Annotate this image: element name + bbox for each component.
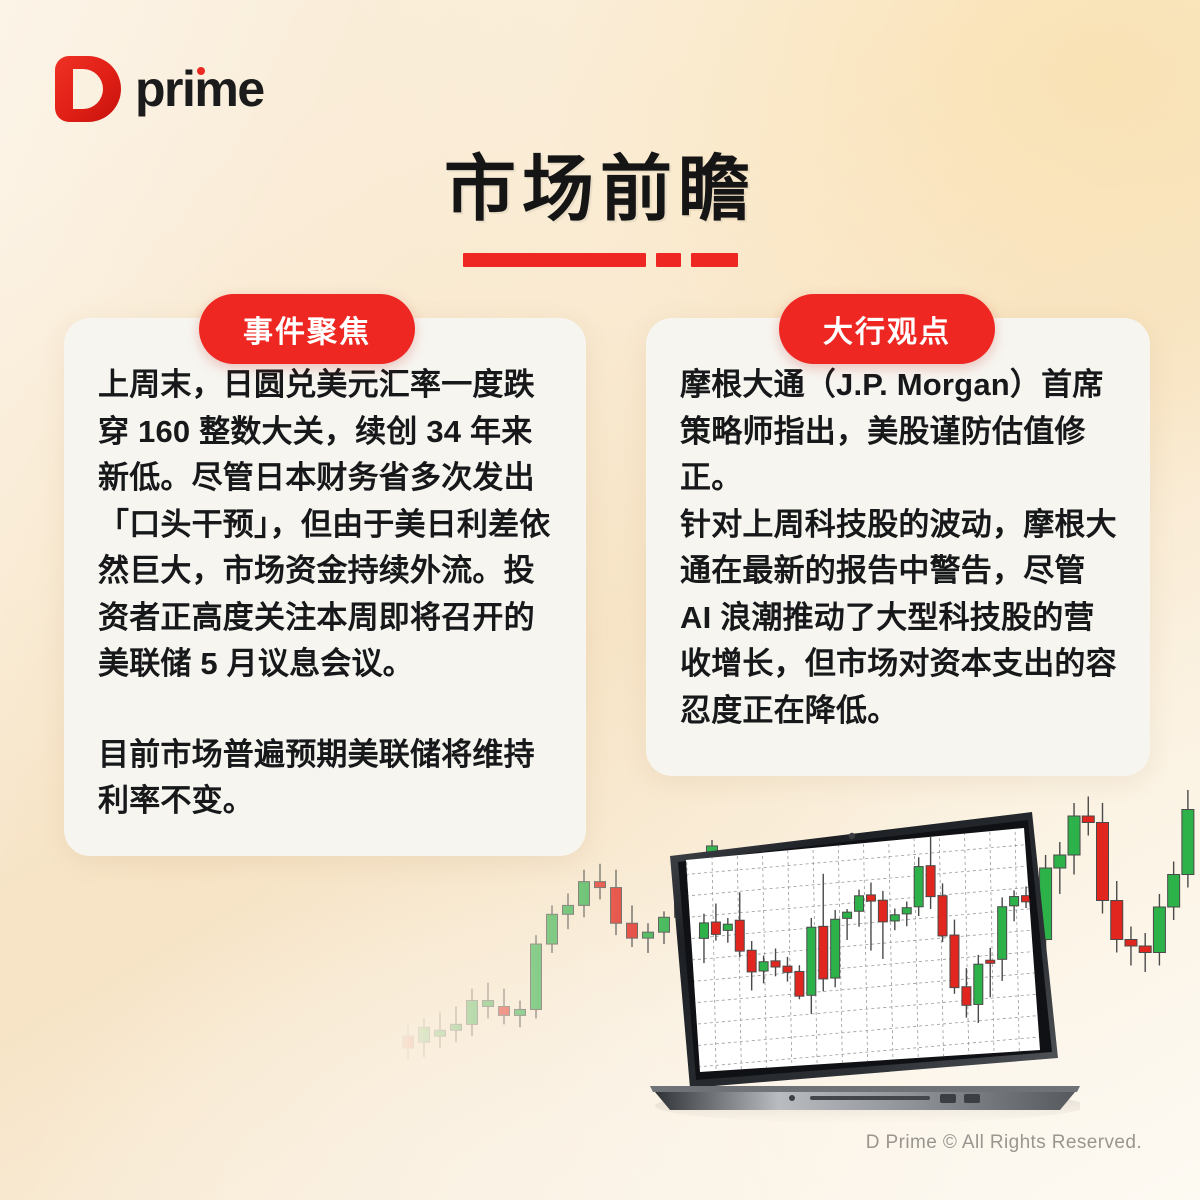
card-bank-view: 摩根大通（J.P. Morgan）首席策略师指出，美股谨防估值修正。 针对上周科…	[646, 318, 1150, 776]
brand-logo: prime	[55, 56, 264, 122]
rule-segment-mid	[691, 253, 738, 267]
title-underline-decoration	[450, 253, 750, 267]
card-right-paragraph-1: 摩根大通（J.P. Morgan）首席策略师指出，美股谨防估值修正。	[680, 362, 1124, 502]
badge-event-focus: 事件聚焦	[199, 294, 415, 364]
card-right-paragraph-2: 针对上周科技股的波动，摩根大通在最新的报告中警告，尽管 AI 浪潮推动了大型科技…	[680, 502, 1124, 735]
poster-canvas: prime 市场前瞻 上周末，日圆兑美元汇率一度跌穿 160 整数大关，续创 3…	[0, 0, 1200, 1200]
illustration-area	[0, 760, 1200, 1160]
card-right-body: 摩根大通（J.P. Morgan）首席策略师指出，美股谨防估值修正。 针对上周科…	[646, 318, 1150, 754]
paragraph-spacer	[98, 688, 560, 732]
rule-segment-dot	[656, 253, 681, 267]
laptop-icon	[640, 800, 1080, 1130]
page-title: 市场前瞻	[0, 130, 1200, 235]
rule-segment-long	[463, 253, 646, 267]
logo-i-dot-icon	[197, 67, 205, 75]
footer-copyright: D Prime © All Rights Reserved.	[866, 1132, 1142, 1154]
title-block: 市场前瞻	[0, 130, 1200, 267]
logo-wordmark: prime	[135, 64, 264, 114]
badge-bank-view: 大行观点	[779, 294, 995, 364]
d-prime-logo-icon	[55, 56, 121, 122]
card-left-paragraph-1: 上周末，日圆兑美元汇率一度跌穿 160 整数大关，续创 34 年来新低。尽管日本…	[98, 362, 560, 688]
